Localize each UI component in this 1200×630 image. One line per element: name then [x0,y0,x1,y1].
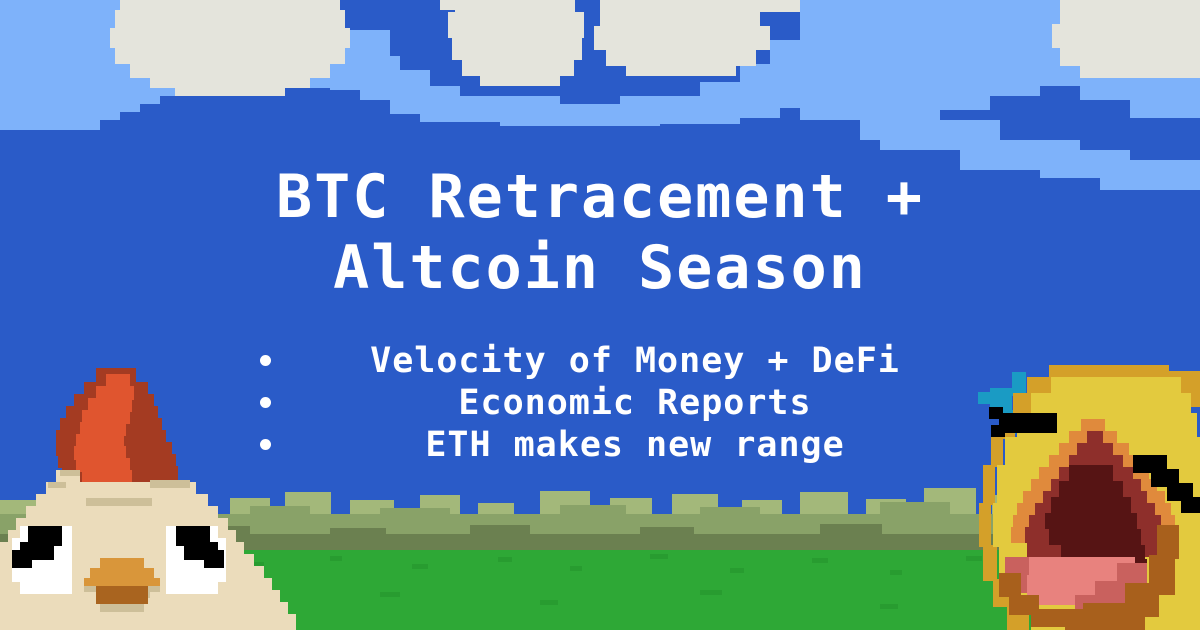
promo-banner: BTC Retracement + Altcoin Season Velocit… [0,0,1200,630]
chicken-character [0,360,300,630]
comb-light [74,374,134,490]
chicken-right-eye [166,526,226,594]
chicken-left-eye [12,526,72,594]
screaming-coin-character [965,365,1200,630]
